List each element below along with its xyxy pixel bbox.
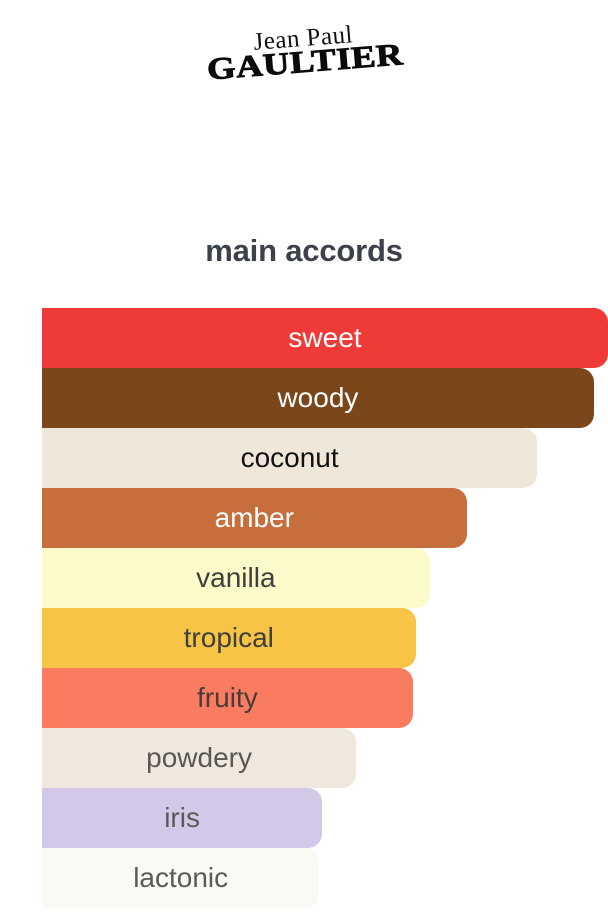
- accord-bar-label: woody: [277, 384, 358, 412]
- accord-bar-chart: sweetwoodycoconutambervanillatropicalfru…: [42, 308, 608, 908]
- accord-bar[interactable]: amber: [42, 488, 467, 548]
- accord-bar[interactable]: vanilla: [42, 548, 430, 608]
- accord-bar-label: lactonic: [133, 864, 228, 892]
- accord-bar[interactable]: coconut: [42, 428, 537, 488]
- brand-logo-inner: Jean Paul GAULTIER: [219, 20, 389, 84]
- accord-bar[interactable]: powdery: [42, 728, 356, 788]
- accord-bar[interactable]: iris: [42, 788, 322, 848]
- brand-logo: Jean Paul GAULTIER: [0, 26, 608, 104]
- accord-bar[interactable]: woody: [42, 368, 594, 428]
- accord-bar[interactable]: sweet: [42, 308, 608, 368]
- accord-bar-label: fruity: [197, 684, 258, 712]
- brand-name-line-2: GAULTIER: [206, 38, 404, 84]
- accord-bar-label: amber: [215, 504, 294, 532]
- accord-bar-label: vanilla: [196, 564, 275, 592]
- accord-bar-label: iris: [164, 804, 200, 832]
- main-accords-page: Jean Paul GAULTIER main accords sweetwoo…: [0, 0, 608, 919]
- accord-bar-label: coconut: [241, 444, 339, 472]
- accord-bar-label: sweet: [288, 324, 361, 352]
- accord-bar[interactable]: fruity: [42, 668, 413, 728]
- accord-bar[interactable]: tropical: [42, 608, 416, 668]
- accord-bar-label: powdery: [146, 744, 252, 772]
- page-title: main accords: [0, 233, 608, 269]
- accord-bar-label: tropical: [184, 624, 274, 652]
- accord-bar[interactable]: lactonic: [42, 848, 319, 908]
